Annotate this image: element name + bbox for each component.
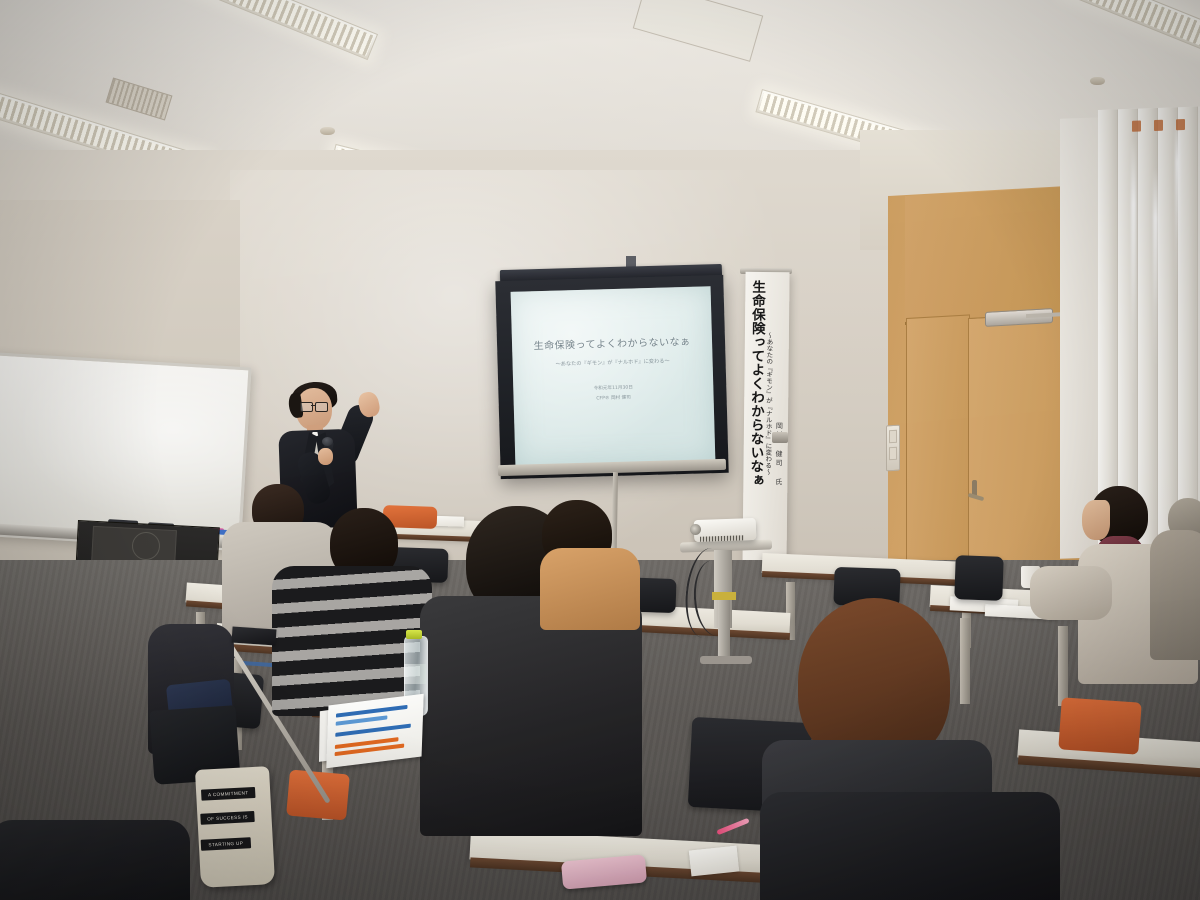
chair-orange[interactable] — [1058, 697, 1141, 754]
glasses-icon — [300, 402, 329, 410]
tote-bag[interactable]: A COMMITMENT OF SUCCESS IS STARTING UP — [195, 766, 275, 888]
banner-title: 生命保険ってよくわからないなぁ — [747, 280, 764, 550]
projection-screen-surface: 生命保険ってよくわからないなぁ ～あなたの『ギモン』が『ナルホド』に変わる～ 令… — [511, 286, 716, 468]
bottle-label — [404, 664, 426, 684]
attendee-arm — [1030, 566, 1112, 620]
presenter-hand-holding-mic — [318, 448, 333, 465]
banner-clip — [772, 432, 788, 443]
attendee-torso — [540, 548, 640, 630]
seminar-handout[interactable] — [326, 694, 423, 768]
microphone-head-icon — [322, 437, 333, 446]
bottle-cap[interactable] — [406, 630, 422, 639]
banner-subtitle: ～あなたの『ギモン』が『ナルホド』に変わる～ — [763, 332, 772, 547]
chair-orange[interactable] — [286, 769, 350, 820]
attendee-torso — [1150, 530, 1200, 660]
attendee-torso — [420, 596, 642, 836]
projector-lens-icon — [690, 524, 701, 535]
smoke-detector — [320, 127, 335, 135]
light-switch-panel[interactable] — [886, 425, 900, 472]
attendee-torso — [760, 792, 1060, 900]
black-pouch[interactable] — [231, 626, 276, 645]
desk-leg — [1058, 626, 1068, 706]
desk-leg — [960, 618, 970, 704]
projector-cart-base — [700, 656, 752, 664]
chair-dark[interactable] — [954, 555, 1004, 601]
tote-label-line3: STARTING UP — [201, 837, 252, 851]
tote-label-line1: A COMMITMENT — [201, 787, 256, 801]
attendee-face — [1082, 500, 1110, 540]
tote-label-line2: OF SUCCESS IS — [200, 811, 255, 825]
note-sheet — [689, 846, 739, 877]
seminar-room-photo: 生命保険ってよくわからないなぁ ～あなたの『ギモン』が『ナルホド』に変わる～ 令… — [0, 0, 1200, 900]
foreground-person-shoulder — [0, 820, 190, 900]
smoke-detector — [1090, 77, 1105, 85]
